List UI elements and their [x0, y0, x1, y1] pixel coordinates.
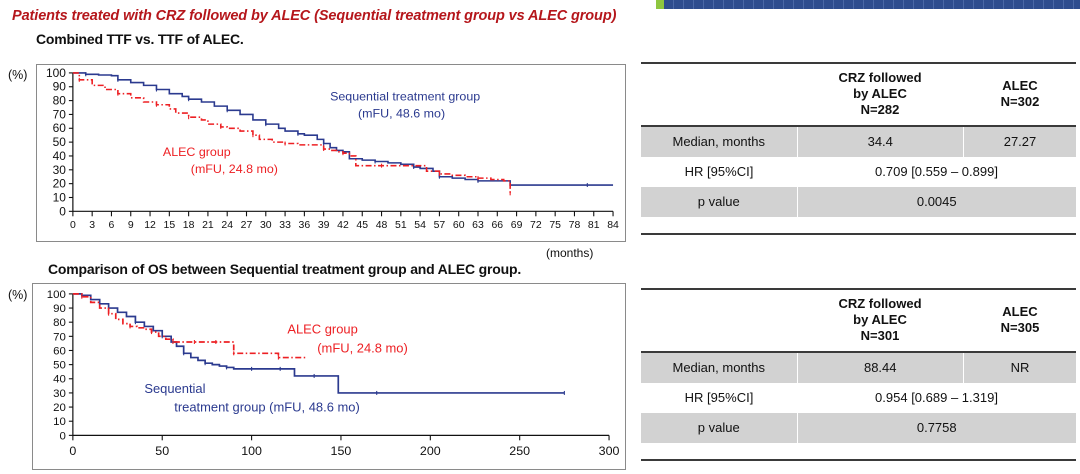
y-tick-label: 40	[53, 149, 67, 163]
table2-row0-label: Median, months	[641, 352, 797, 383]
x-tick-label: 0	[69, 444, 76, 458]
chart-ttf: 0102030405060708090100036912151821242730…	[36, 64, 626, 242]
table2-row1-value: 0.954 [0.689 – 1.319]	[797, 383, 1076, 413]
chart-ttf-canvas: 0102030405060708090100036912151821242730…	[37, 65, 625, 241]
y-tick-label: 20	[53, 402, 66, 414]
annotation-sublabel: treatment group (mFU, 48.6 mo)	[174, 400, 360, 415]
table-row: p value 0.0045	[641, 187, 1076, 217]
x-tick-label: 75	[549, 220, 561, 231]
x-tick-label: 63	[472, 220, 484, 231]
table-row: Median, months 88.44 NR	[641, 352, 1076, 383]
y-tick-label: 30	[53, 163, 67, 177]
table1-header-crz-line3: N=282	[861, 102, 900, 117]
x-tick-label: 150	[331, 444, 352, 458]
x-tick-label: 18	[183, 220, 195, 231]
x-tick-label: 3	[89, 220, 95, 231]
table1-row0-crz: 34.4	[797, 126, 964, 157]
table2-row1-label: HR [95%CI]	[641, 383, 797, 413]
x-tick-label: 200	[420, 444, 441, 458]
table2-row0-crz: 88.44	[797, 352, 964, 383]
table1-row0-label: Median, months	[641, 126, 797, 157]
table2-header-alec-line2: N=305	[1001, 320, 1040, 335]
table2-header-blank	[641, 289, 797, 352]
table1-row2-label: p value	[641, 187, 797, 217]
y-tick-label: 90	[53, 303, 66, 315]
y-tick-label: 100	[47, 289, 66, 301]
x-tick-label: 78	[569, 220, 581, 231]
y-tick-label: 70	[53, 107, 67, 121]
y-tick-label: 10	[53, 190, 67, 204]
y-tick-label: 20	[53, 177, 67, 191]
annotation-sublabel: (mFU, 48.6 mo)	[358, 106, 445, 120]
x-tick-label: 81	[588, 220, 600, 231]
annotation-label: ALEC group	[287, 322, 357, 337]
y-tick-label: 50	[53, 135, 67, 149]
x-tick-label: 69	[511, 220, 523, 231]
table2-row2-value: 0.7758	[797, 413, 1076, 443]
y-tick-label: 40	[53, 374, 66, 386]
table-header-row: CRZ followed by ALEC N=282 ALEC N=302	[641, 63, 1076, 126]
table2-bottom-rule	[641, 459, 1076, 461]
x-tick-label: 66	[491, 220, 503, 231]
y-tick-label: 0	[59, 204, 66, 218]
y-tick-label: 60	[53, 121, 67, 135]
table2-header-crz: CRZ followed by ALEC N=301	[797, 289, 964, 352]
x-tick-label: 6	[109, 220, 115, 231]
annotation-label: ALEC group	[163, 145, 231, 159]
y-tick-label: 100	[46, 66, 66, 80]
section1-heading: Combined TTF vs. TTF of ALEC.	[36, 31, 244, 47]
table-header-row: CRZ followed by ALEC N=301 ALEC N=305	[641, 289, 1076, 352]
top-banner-accent	[656, 0, 664, 9]
chart2-y-unit: (%)	[8, 288, 27, 302]
table-row: HR [95%CI] 0.954 [0.689 – 1.319]	[641, 383, 1076, 413]
table-row: Median, months 34.4 27.27	[641, 126, 1076, 157]
section2-heading: Comparison of OS between Sequential trea…	[48, 261, 521, 277]
table1-header-alec-line1: ALEC	[1002, 78, 1037, 93]
table2-header-alec: ALEC N=305	[964, 289, 1077, 352]
x-tick-label: 54	[414, 220, 426, 231]
table2-header-crz-line3: N=301	[861, 328, 900, 343]
table1-header-crz: CRZ followed by ALEC N=282	[797, 63, 964, 126]
x-tick-label: 72	[530, 220, 542, 231]
table1-bottom-rule	[641, 233, 1076, 235]
x-tick-label: 24	[221, 220, 233, 231]
table1-header-alec-line2: N=302	[1001, 94, 1040, 109]
x-tick-label: 36	[299, 220, 311, 231]
y-tick-label: 50	[53, 360, 66, 372]
table-row: HR [95%CI] 0.709 [0.559 – 0.899]	[641, 157, 1076, 187]
x-tick-label: 48	[376, 220, 388, 231]
x-tick-label: 51	[395, 220, 407, 231]
table2-header-alec-line1: ALEC	[1002, 304, 1037, 319]
chart-os: 0102030405060708090100050100150200250300…	[32, 283, 626, 470]
x-tick-label: 84	[607, 220, 619, 231]
stats-table-ttf: CRZ followed by ALEC N=282 ALEC N=302 Me…	[641, 62, 1076, 217]
annotation-sublabel: (mFU, 24.8 mo)	[317, 340, 408, 355]
slide-title: Patients treated with CRZ followed by AL…	[12, 8, 616, 24]
y-tick-label: 10	[53, 416, 66, 428]
table1-row1-label: HR [95%CI]	[641, 157, 797, 187]
x-tick-label: 100	[241, 444, 262, 458]
table2-row2-label: p value	[641, 413, 797, 443]
table1-row2-value: 0.0045	[797, 187, 1076, 217]
x-tick-label: 57	[434, 220, 446, 231]
annotation-sublabel: (mFU, 24.8 mo)	[191, 162, 278, 176]
y-tick-label: 30	[53, 388, 66, 400]
x-tick-label: 300	[599, 444, 620, 458]
table2-row0-alec: NR	[964, 352, 1077, 383]
table-row: p value 0.7758	[641, 413, 1076, 443]
x-tick-label: 33	[279, 220, 291, 231]
x-tick-label: 60	[453, 220, 465, 231]
y-tick-label: 0	[60, 430, 66, 442]
annotation-label: Sequential treatment group	[330, 90, 480, 104]
x-tick-label: 30	[260, 220, 272, 231]
x-tick-label: 45	[356, 220, 368, 231]
table1-header-alec: ALEC N=302	[964, 63, 1077, 126]
x-tick-label: 0	[70, 220, 76, 231]
top-banner-ticks	[664, 0, 1080, 9]
x-tick-label: 27	[241, 220, 253, 231]
y-tick-label: 80	[53, 317, 66, 329]
x-tick-label: 42	[337, 220, 349, 231]
chart1-y-unit: (%)	[8, 68, 27, 82]
x-tick-label: 50	[155, 444, 169, 458]
table1-row1-value: 0.709 [0.559 – 0.899]	[797, 157, 1076, 187]
x-tick-label: 15	[164, 220, 176, 231]
table1-header-crz-line1: CRZ followed	[838, 70, 921, 85]
table1-header-crz-line2: by ALEC	[853, 86, 907, 101]
chart-os-canvas: 0102030405060708090100050100150200250300…	[33, 284, 625, 469]
x-tick-label: 9	[128, 220, 134, 231]
chart1-x-unit: (months)	[546, 246, 593, 260]
x-tick-label: 21	[202, 220, 214, 231]
y-tick-label: 60	[53, 345, 66, 357]
y-tick-label: 90	[53, 80, 67, 94]
x-tick-label: 250	[509, 444, 530, 458]
y-tick-label: 70	[53, 331, 66, 343]
table1-row0-alec: 27.27	[964, 126, 1077, 157]
y-tick-label: 80	[53, 94, 67, 108]
table2-header-crz-line2: by ALEC	[853, 312, 907, 327]
x-tick-label: 39	[318, 220, 330, 231]
x-tick-label: 12	[144, 220, 156, 231]
table2-header-crz-line1: CRZ followed	[838, 296, 921, 311]
stats-table-os: CRZ followed by ALEC N=301 ALEC N=305 Me…	[641, 288, 1076, 443]
annotation-label: Sequential	[144, 381, 205, 396]
table1-header-blank	[641, 63, 797, 126]
